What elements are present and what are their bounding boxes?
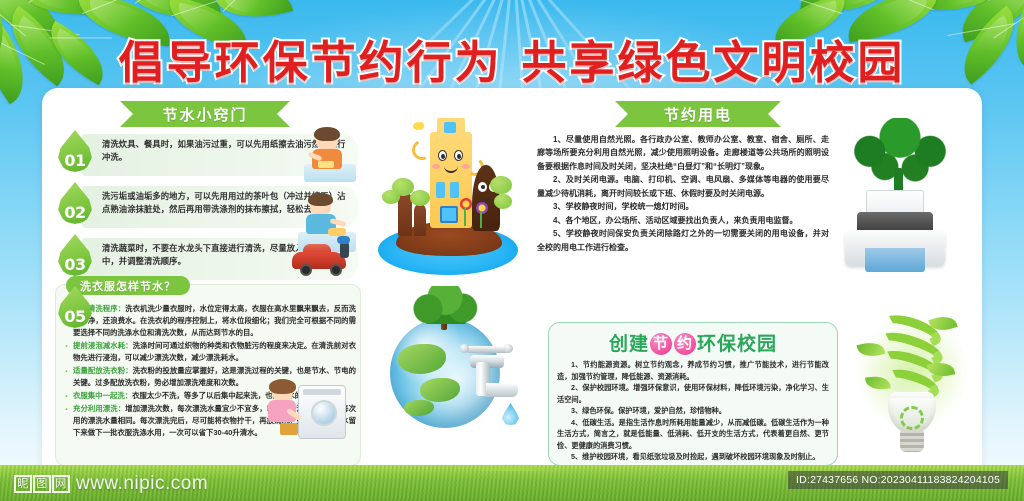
green-campus-title-part: 环保校园	[697, 334, 777, 355]
green-campus-paragraph: 2、保护校园环境。增强环保意识，使用环保材料，降低环境污染，净化学习、生活空间。	[557, 382, 829, 405]
electricity-paragraph: 4、各个地区，办公场所、活动区域要找出负责人，来负责用电监督。	[537, 214, 829, 227]
electricity-paragraph: 5、学校静夜时间保安负责关闭除路灯之外的一切需要关闭的用电设备，并对全校的用电工…	[537, 227, 829, 254]
tree-icon	[411, 286, 479, 324]
wash-item: 提前浸泡减水耗：洗涤时间可通过织物的种类和衣物脏污的程度来决定。在清洗前对衣物先…	[64, 340, 356, 364]
green-campus-title-highlight: 约	[674, 333, 696, 355]
electricity-text-block: 1、尽量使用自然光照。各行政办公室、教师办公室、教室、宿舍、厕所、走廊等场所要充…	[537, 133, 829, 254]
recycle-icon	[900, 406, 924, 430]
wash-item-lead: 充分利用漂洗：	[73, 404, 125, 413]
poster-root: 倡导环保节约行为 共享绿色文明校园 节水小窍门 01 清洗炊具、餐具时，如果油污…	[0, 0, 1024, 501]
green-campus-body: 1、节约能源资源。树立节约观念，养成节约习惯，推广节能技术，进行节能改造，加强节…	[549, 356, 837, 463]
banner-water-tips-label: 节水小窍门	[162, 104, 247, 125]
watermark-logo-char: 图	[33, 475, 51, 493]
illustration-kid-dishes	[300, 128, 356, 182]
banner-save-electricity-label: 节约用电	[664, 104, 732, 125]
image-id-tag: ID:27437656 NO:20230411183824204105	[788, 471, 1008, 489]
electricity-paragraph: 1、尽量使用自然光照。各行政办公室、教师办公室、教室、宿舍、厕所、走廊等场所要充…	[537, 133, 829, 173]
tip-number: 05	[58, 307, 92, 326]
tip-number: 03	[58, 255, 92, 274]
green-campus-title-highlight: 节	[650, 333, 672, 355]
electricity-paragraph: 3、学校静夜时间，学校统一熄灯时间。	[537, 200, 829, 213]
watermark-url: www.nipic.com	[76, 473, 208, 495]
green-campus-paragraph: 4、低碳生活。是指生活作息时所耗用能量减少，从而减低碳。低碳生活作为一种生活方式…	[557, 417, 829, 452]
watermark-logo-char: 昵	[14, 475, 32, 493]
watermark: 昵 图 网 www.nipic.com	[14, 473, 208, 495]
banner-water-tips: 节水小窍门	[133, 101, 277, 127]
green-campus-paragraph: 3、绿色环保。保护环境，爱护自然，珍惜物种。	[557, 405, 829, 417]
banner-save-electricity: 节约用电	[628, 101, 768, 127]
page-title: 倡导环保节约行为 共享绿色文明校园	[0, 26, 1024, 91]
watermark-logo: 昵 图 网	[14, 475, 70, 493]
bird-icon	[413, 122, 424, 130]
electricity-paragraph: 2、及时关闭电源。电脑、打印机、空调、电风扇、多媒体等电器的使用要尽量减少待机消…	[537, 173, 829, 200]
tip-number: 02	[58, 203, 92, 222]
green-campus-paragraph: 1、节约能源资源。树立节约观念，养成节约习惯，推广节能技术，进行节能改造，加强节…	[557, 359, 829, 382]
green-campus-title-part: 创建	[609, 334, 649, 355]
green-campus-title: 创建节约环保校园	[549, 329, 837, 356]
wash-item-lead: 提前浸泡减水耗：	[73, 341, 133, 350]
wash-item-lead: 衣服集中一起洗：	[73, 391, 132, 400]
green-campus-panel: 创建节约环保校园 1、节约能源资源。树立节约观念，养成节约习惯，推广节能技术，进…	[548, 322, 838, 466]
tip-number: 01	[58, 151, 92, 170]
wash-item-lead: 适量配放洗衣粉：	[73, 366, 133, 375]
watermark-logo-char: 网	[52, 475, 70, 493]
wash-item: 精选清洗程序：洗衣机洗少量衣服时，水位定得太高，衣服在高水里飘来飘去，反而洗不干…	[64, 303, 356, 339]
illustration-kid-laundry	[262, 382, 306, 440]
washing-panel-title: 洗衣服怎样节水？	[66, 276, 190, 295]
